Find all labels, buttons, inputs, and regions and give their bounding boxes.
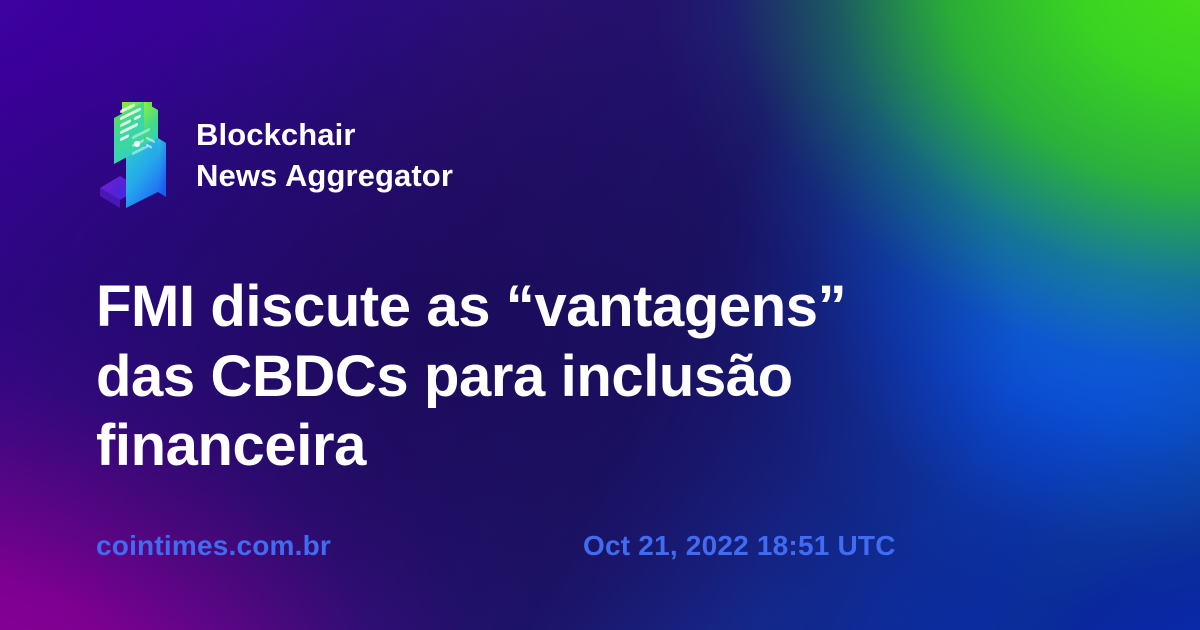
brand-lockup[interactable]: Blockchair News Aggregator [96,96,1120,214]
layout-spacer [96,520,1120,530]
card-footer: cointimes.com.br Oct 21, 2022 18:51 UTC [96,530,1120,586]
headline-line-3: financeira [96,413,366,478]
share-card: Blockchair News Aggregator FMI discute a… [0,0,1200,630]
headline-line-2: das CBDCs para inclusão [96,344,793,409]
publish-timestamp: Oct 21, 2022 18:51 UTC [583,530,896,562]
card-content: Blockchair News Aggregator FMI discute a… [0,0,1200,630]
headline-line-1: FMI discute as “vantagens” [96,274,846,339]
blockchair-logo-icon [96,96,170,214]
brand-name-line-1: Blockchair [196,114,453,155]
brand-name: Blockchair News Aggregator [196,114,453,196]
article-headline: FMI discute as “vantagens” das CBDCs par… [96,272,996,481]
source-domain-link[interactable]: cointimes.com.br [96,530,331,562]
brand-name-line-2: News Aggregator [196,155,453,196]
